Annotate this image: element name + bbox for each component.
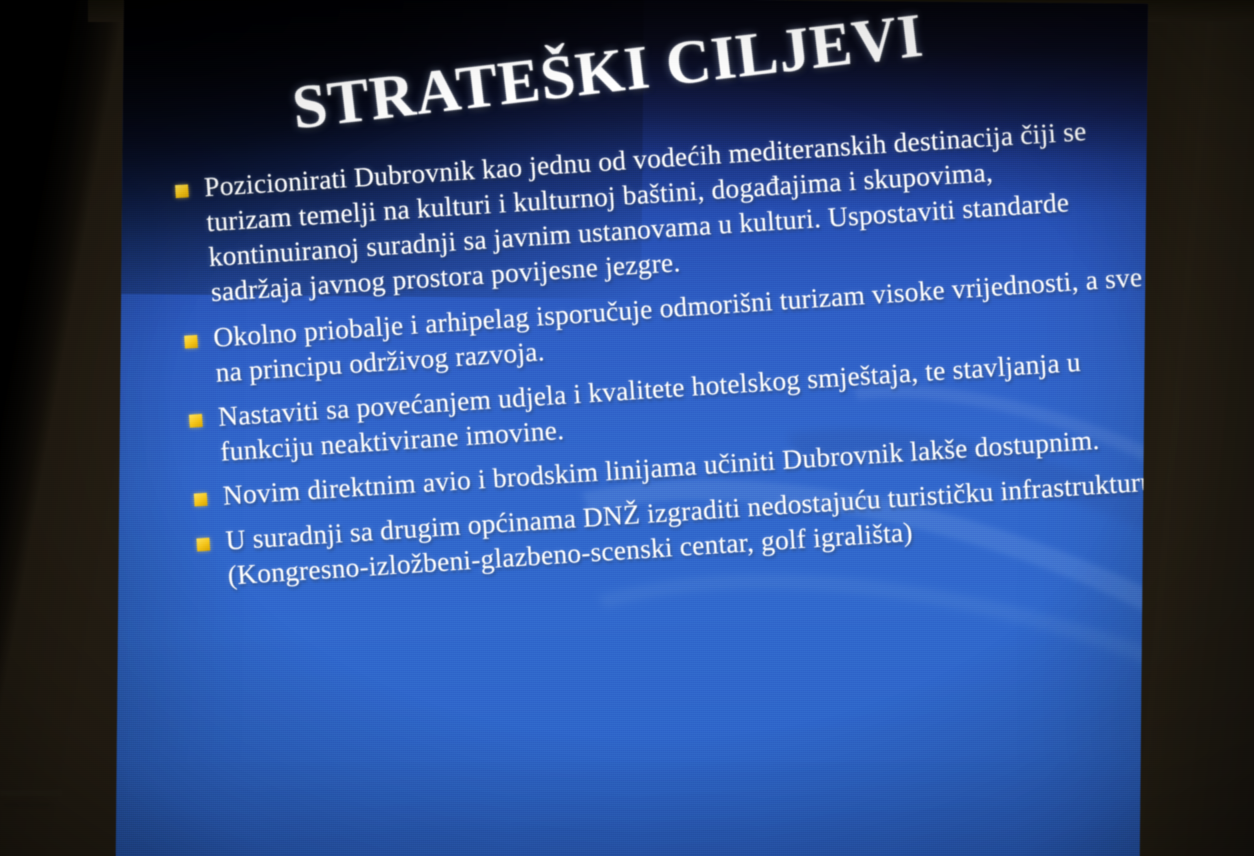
room-wall-right-panel [1135, 0, 1254, 856]
wall-scuff-mark [0, 790, 62, 796]
square-bullet-icon [194, 493, 208, 507]
wall-scuff-mark-secondary [4, 803, 50, 807]
slide-content-area: STRATEŠKI CILJEVI Pozicionirati Dubrovni… [116, 0, 1148, 856]
projected-slide-photograph: STRATEŠKI CILJEVI Pozicionirati Dubrovni… [0, 0, 1254, 856]
square-bullet-icon [184, 335, 198, 349]
square-bullet-icon [175, 184, 189, 198]
presentation-slide-surface: STRATEŠKI CILJEVI Pozicionirati Dubrovni… [116, 0, 1148, 856]
square-bullet-icon [189, 413, 203, 427]
slide-title: STRATEŠKI CILJEVI [289, 0, 927, 144]
slide-bullet-list: Pozicionirati Dubrovnik kao jednu od vod… [174, 113, 1148, 604]
square-bullet-icon [196, 538, 210, 552]
